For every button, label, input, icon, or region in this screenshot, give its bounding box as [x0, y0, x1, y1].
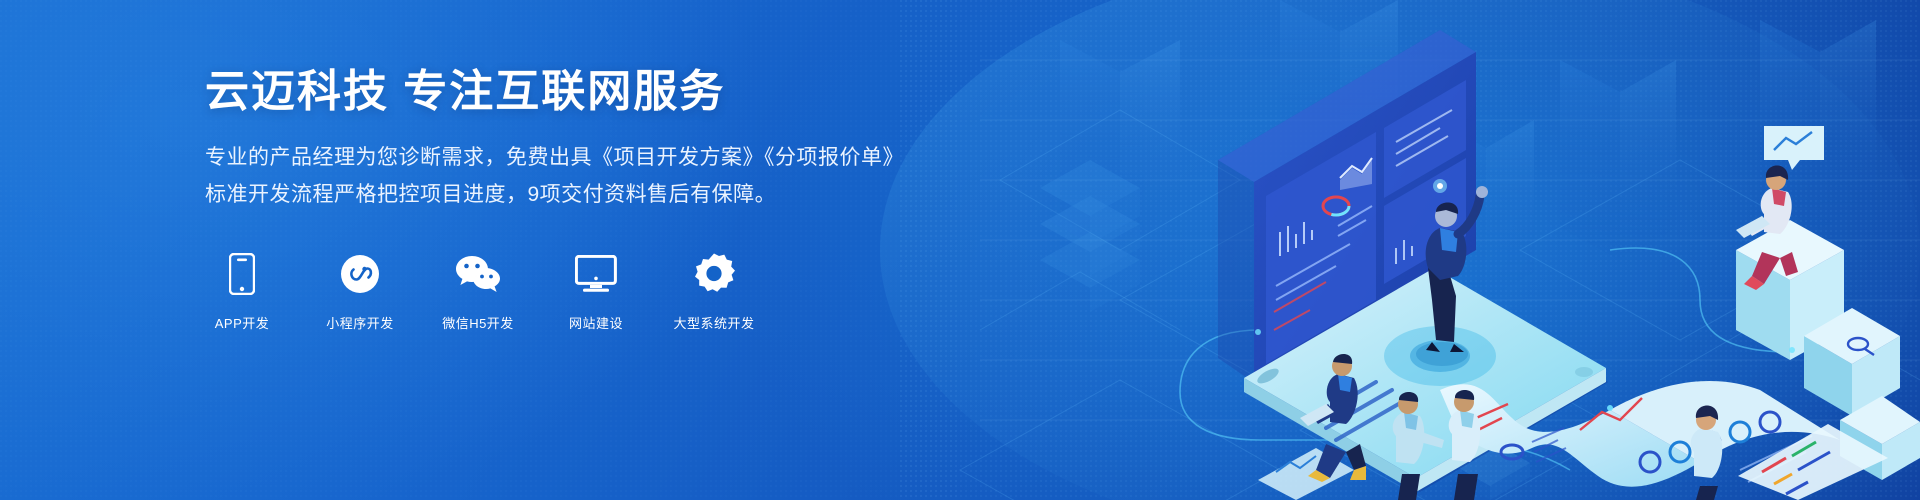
banner-content: 云迈科技 专注互联网服务 专业的产品经理为您诊断需求，免费出具《项目开发方案》《…: [205, 66, 1105, 332]
service-item-app[interactable]: APP开发: [205, 251, 279, 332]
mobile-phone-icon: [229, 251, 255, 297]
mini-program-icon: [340, 251, 380, 297]
chat-bubble: [1764, 126, 1824, 170]
promo-banner: 云迈科技 专注互联网服务 专业的产品经理为您诊断需求，免费出具《项目开发方案》《…: [0, 0, 1920, 500]
service-item-large-system[interactable]: 大型系统开发: [677, 251, 751, 332]
service-label: 小程序开发: [326, 313, 394, 332]
service-item-website[interactable]: 网站建设: [559, 251, 633, 332]
subtitle-line-1: 专业的产品经理为您诊断需求，免费出具《项目开发方案》《分项报价单》: [205, 140, 1105, 177]
banner-subtitle: 专业的产品经理为您诊断需求，免费出具《项目开发方案》《分项报价单》 标准开发流程…: [205, 140, 1105, 214]
page-title: 云迈科技 专注互联网服务: [205, 66, 1105, 118]
subtitle-line-2: 标准开发流程严格把控项目进度，9项交付资料售后有保障。: [205, 177, 1105, 214]
service-label: 微信H5开发: [442, 313, 514, 332]
service-label: 网站建设: [569, 313, 623, 332]
monitor-icon: [575, 251, 617, 297]
service-list: APP开发 小程序开发: [205, 251, 1105, 332]
gear-icon: [693, 251, 735, 297]
service-label: APP开发: [215, 313, 270, 332]
service-item-mini-program[interactable]: 小程序开发: [323, 251, 397, 332]
isometric-tech-illustration: [1140, 0, 1920, 500]
wechat-icon: [455, 251, 501, 297]
service-item-wechat-h5[interactable]: 微信H5开发: [441, 251, 515, 332]
service-label: 大型系统开发: [674, 313, 755, 332]
illustration-svg: [1140, 0, 1920, 500]
